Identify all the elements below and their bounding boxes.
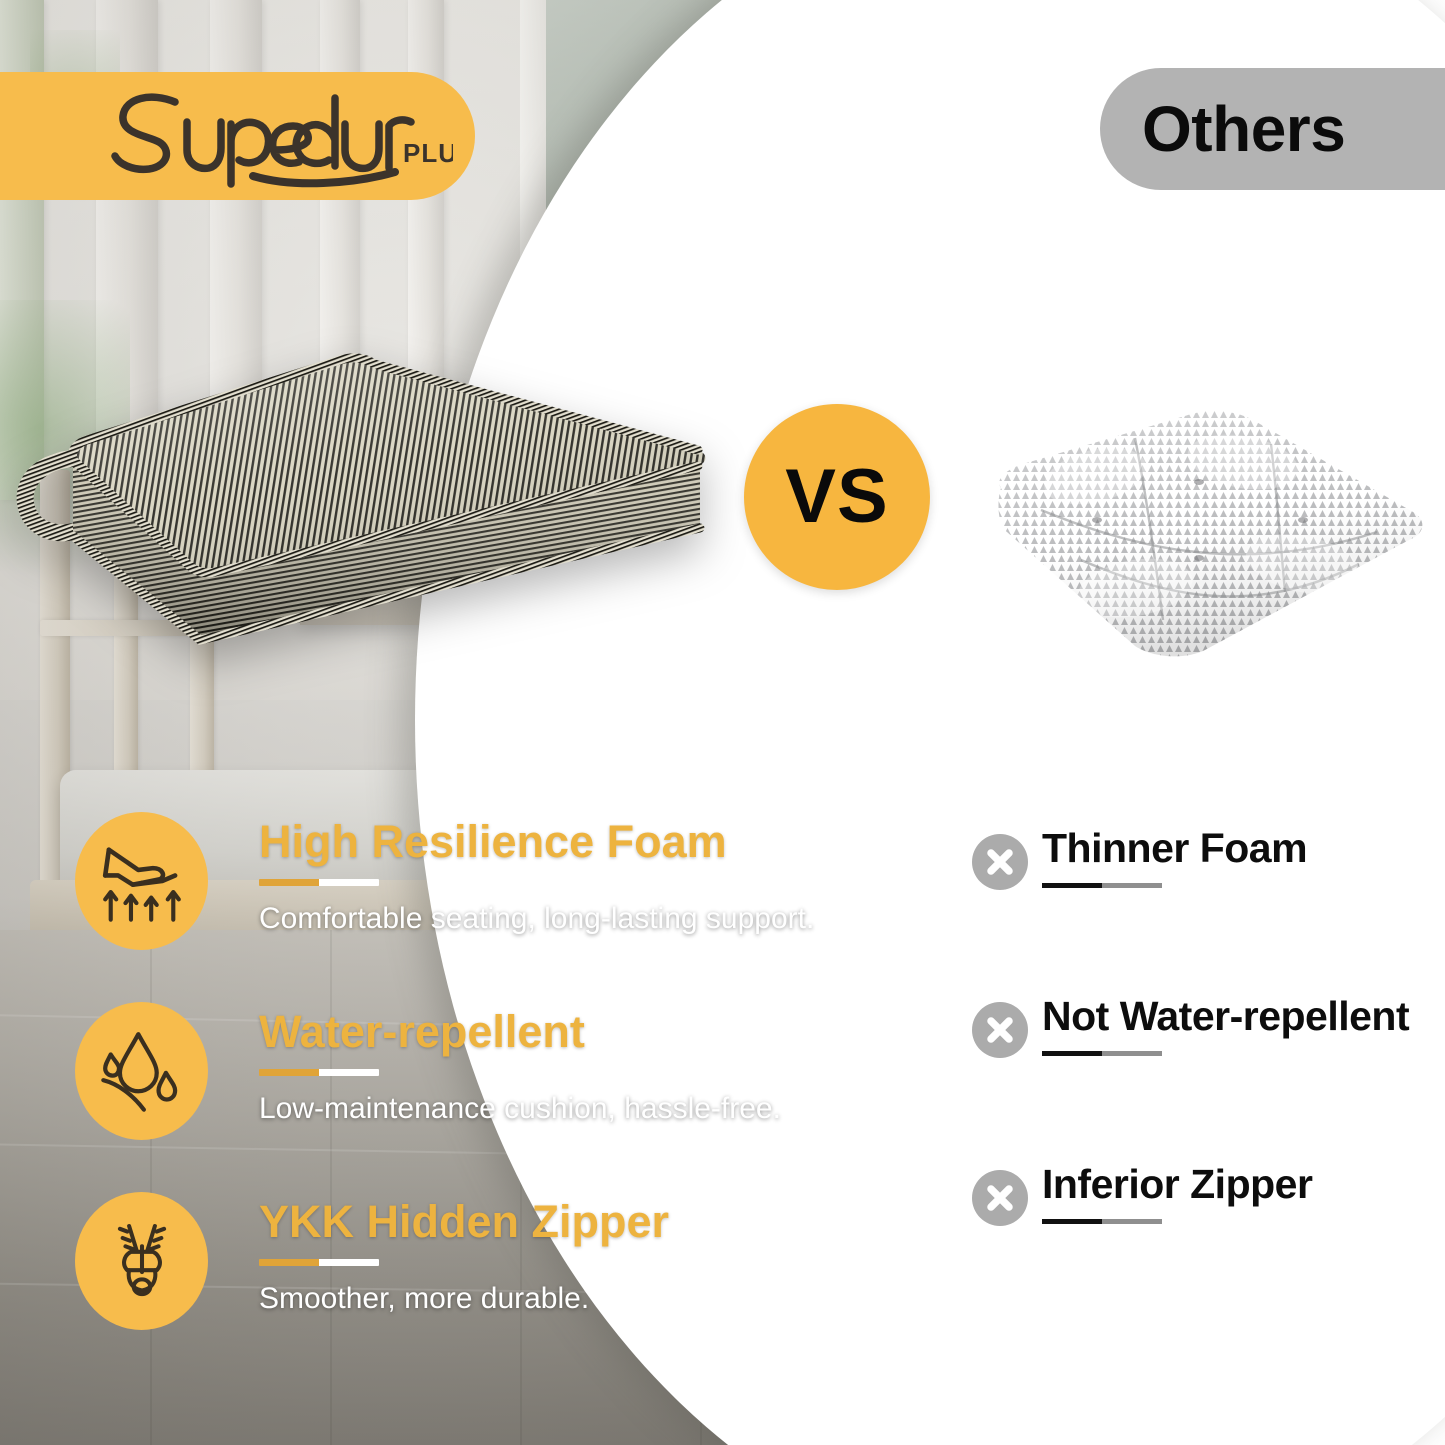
con-divider-bar (1042, 1219, 1162, 1224)
con-text-block: Thinner Foam (1042, 826, 1307, 888)
feature-divider-bar (259, 879, 379, 886)
vs-label: VS (785, 459, 888, 535)
con-item: Inferior Zipper (972, 1168, 1442, 1258)
others-cushion-image (985, 392, 1435, 682)
x-circle-icon (972, 834, 1028, 890)
zipper-icon (75, 1192, 208, 1330)
feature-divider-bar (259, 1259, 379, 1266)
feature-description: Smoother, more durable. (259, 1282, 819, 1317)
feature-description: Comfortable seating, long-lasting suppor… (259, 902, 819, 937)
feature-text-block: Water-repellent Low-maintenance cushion,… (259, 1008, 819, 1127)
hand-support-arrows-icon (75, 812, 208, 950)
con-divider-bar (1042, 883, 1162, 888)
svg-text:PLUS: PLUS (403, 138, 453, 168)
feature-text-block: High Resilience Foam Comfortable seating… (259, 818, 819, 937)
con-title: Not Water-repellent (1042, 994, 1409, 1039)
others-label: Others (1142, 97, 1345, 161)
feature-title: YKK Hidden Zipper (259, 1198, 819, 1245)
con-divider-bar (1042, 1051, 1162, 1056)
x-circle-icon (972, 1170, 1028, 1226)
feature-title: Water-repellent (259, 1008, 819, 1055)
feature-list: High Resilience Foam Comfortable seating… (75, 812, 815, 1382)
x-circle-icon (972, 1002, 1028, 1058)
brand-logo-badge: PLUS (0, 72, 475, 200)
feature-text-block: YKK Hidden Zipper Smoother, more durable… (259, 1198, 819, 1317)
supdur-plus-logo-icon: PLUS (103, 84, 453, 189)
water-droplet-repel-icon (75, 1002, 208, 1140)
feature-item: Water-repellent Low-maintenance cushion,… (75, 1002, 815, 1150)
con-text-block: Not Water-repellent (1042, 994, 1409, 1056)
feature-divider-bar (259, 1069, 379, 1076)
con-title: Thinner Foam (1042, 826, 1307, 871)
con-text-block: Inferior Zipper (1042, 1162, 1312, 1224)
product-cushion-image (10, 340, 710, 680)
feature-title: High Resilience Foam (259, 818, 819, 865)
con-title: Inferior Zipper (1042, 1162, 1312, 1207)
vs-badge: VS (744, 404, 930, 590)
feature-description: Low-maintenance cushion, hassle-free. (259, 1092, 819, 1127)
con-item: Not Water-repellent (972, 1000, 1442, 1090)
feature-item: YKK Hidden Zipper Smoother, more durable… (75, 1192, 815, 1340)
feature-item: High Resilience Foam Comfortable seating… (75, 812, 815, 960)
others-badge: Others (1100, 68, 1445, 190)
others-drawback-list: Thinner Foam Not Water-repellent (972, 832, 1442, 1336)
comparison-infographic: PLUS Others VS (0, 0, 1445, 1445)
con-item: Thinner Foam (972, 832, 1442, 922)
